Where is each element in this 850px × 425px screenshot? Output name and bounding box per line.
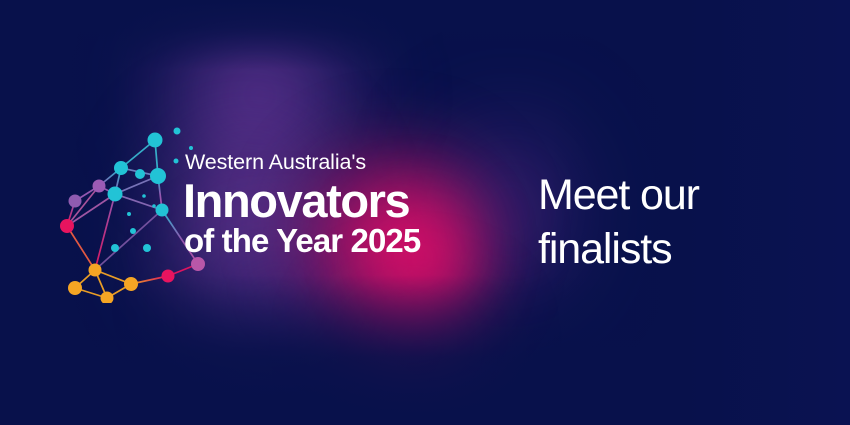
speck-teal xyxy=(143,244,151,252)
speck-teal xyxy=(142,194,146,198)
headline-line-1: Meet our xyxy=(538,168,808,222)
node-teal-large xyxy=(114,161,128,175)
node-orange xyxy=(68,281,82,295)
wordmark-line-year: of the Year 2025 xyxy=(184,224,503,257)
node-purple xyxy=(191,257,205,271)
logo-wordmark: Western Australia's Innovators of the Ye… xyxy=(183,152,503,257)
speck-teal xyxy=(111,244,119,252)
node-orange xyxy=(124,277,138,291)
wordmark-line-innovators: Innovators xyxy=(183,178,503,223)
speck-teal xyxy=(127,212,131,216)
node-orange xyxy=(101,292,114,304)
node-teal-large xyxy=(150,168,166,184)
node-teal-large xyxy=(156,204,169,217)
headline-line-2: finalists xyxy=(538,222,808,276)
node-orange xyxy=(89,264,102,277)
node-magenta xyxy=(162,270,175,283)
node-purple xyxy=(93,180,106,193)
wordmark-line-state: Western Australia's xyxy=(185,152,503,174)
promo-banner: Western Australia's Innovators of the Ye… xyxy=(0,0,850,425)
node-teal-large xyxy=(148,133,163,148)
speck-teal xyxy=(174,128,181,135)
headline: Meet our finalists xyxy=(538,168,808,276)
speck-teal xyxy=(152,204,156,208)
node-purple xyxy=(69,195,82,208)
speck-teal xyxy=(130,228,136,234)
node-teal-medium xyxy=(135,169,145,179)
speck-teal xyxy=(174,159,179,164)
node-magenta xyxy=(60,219,74,233)
node-teal-large xyxy=(108,187,123,202)
